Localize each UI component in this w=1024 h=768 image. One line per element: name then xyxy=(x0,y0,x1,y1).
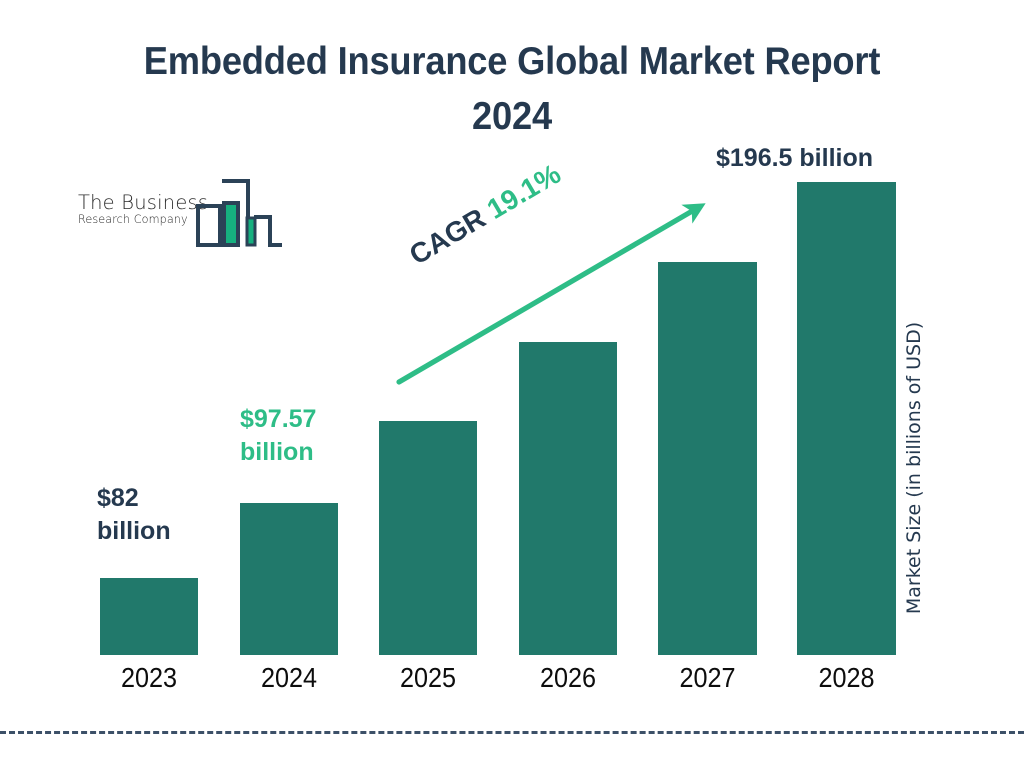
y-axis-title: Market Size (in billions of USD) xyxy=(903,0,925,278)
bar-chart-plot: 2023 2024 2025 2026 2027 2028 $82 billio… xyxy=(0,0,1024,768)
growth-arrow-icon xyxy=(0,0,1024,768)
chart-page: Embedded Insurance Global Market Report … xyxy=(0,0,1024,768)
footer-divider xyxy=(0,731,1024,734)
y-axis-title-text: Market Size (in billions of USD) xyxy=(903,278,925,658)
